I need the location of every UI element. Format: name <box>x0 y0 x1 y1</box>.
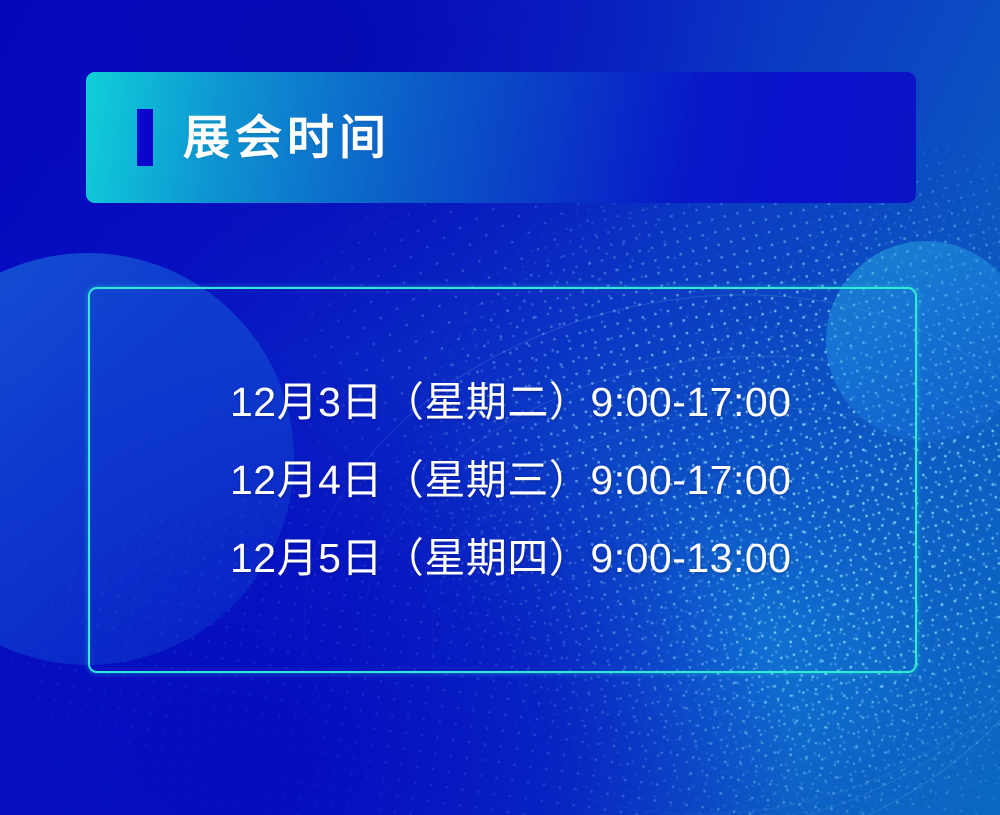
page-title: 展会时间 <box>183 114 391 161</box>
section-header-banner: 展会时间 <box>86 72 916 203</box>
schedule-card: 12月3日（星期二）9:00-17:00 12月4日（星期三）9:00-17:0… <box>88 287 917 673</box>
schedule-row: 12月5日（星期四）9:00-13:00 <box>230 519 915 597</box>
accent-bar <box>137 109 153 166</box>
exhibition-time-poster: 展会时间 12月3日（星期二）9:00-17:00 12月4日（星期三）9:00… <box>0 0 1000 815</box>
schedule-list: 12月3日（星期二）9:00-17:00 12月4日（星期三）9:00-17:0… <box>230 363 915 597</box>
schedule-row: 12月3日（星期二）9:00-17:00 <box>230 363 915 441</box>
schedule-row: 12月4日（星期三）9:00-17:00 <box>230 441 915 519</box>
